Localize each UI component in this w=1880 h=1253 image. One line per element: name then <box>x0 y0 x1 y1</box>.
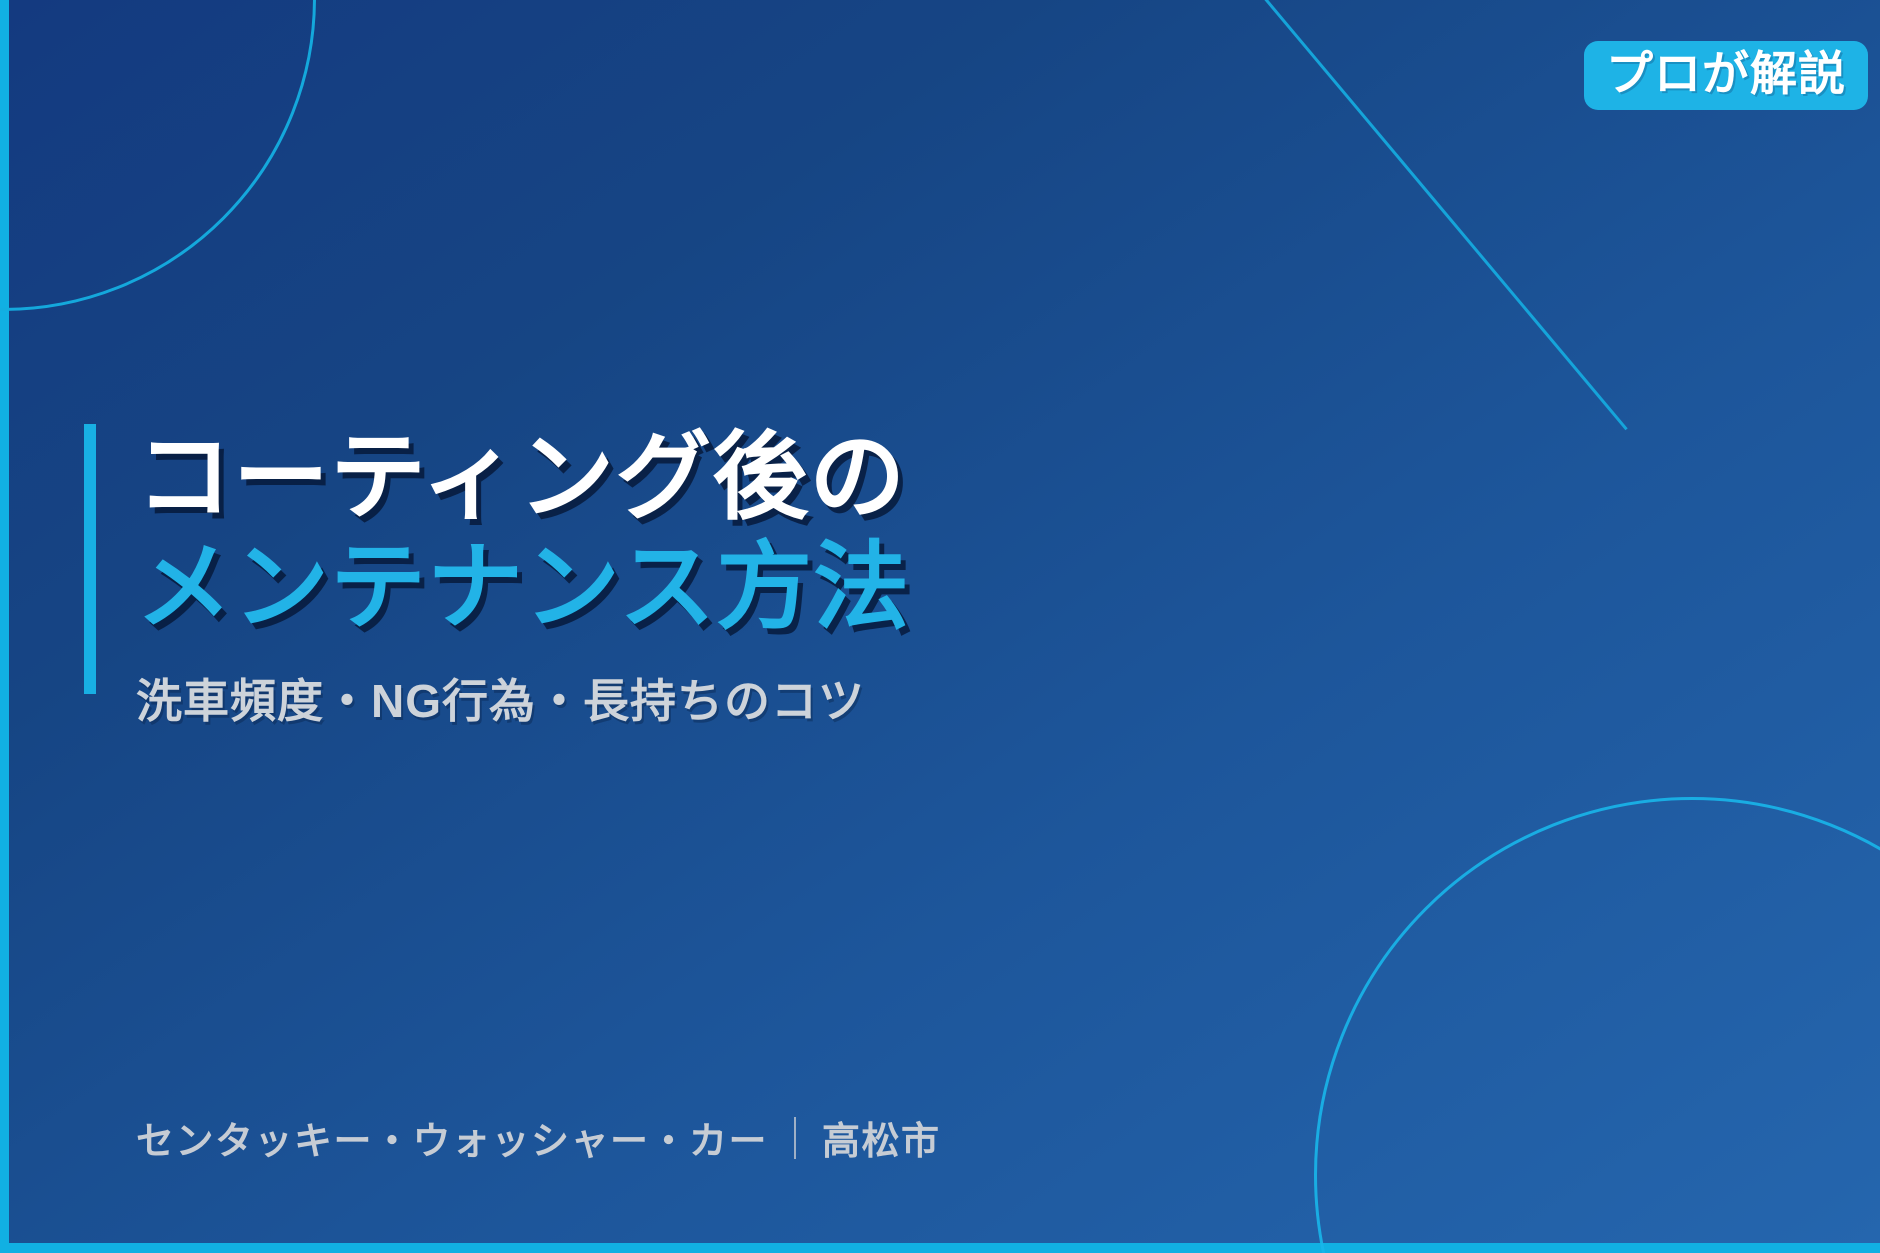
pro-explains-badge: プロが解説 <box>1584 41 1868 110</box>
footer-location: 高松市 <box>822 1110 941 1165</box>
title-subtitle: 洗車頻度・NG行為・長持ちのコツ <box>136 665 1184 731</box>
footer: センタッキー・ウォッシャー・カー 高松市 <box>136 1110 941 1165</box>
left-edge-accent-bar <box>0 0 9 1253</box>
badge-label: プロが解説 <box>1606 50 1846 97</box>
bottom-right-circle-outline <box>1314 797 1880 1253</box>
title-line-1: コーティング後の <box>136 424 1184 532</box>
title-line-2: メンテナンス方法 <box>136 534 1184 642</box>
footer-brand-name: センタッキー・ウォッシャー・カー <box>136 1110 768 1165</box>
top-left-circle-outline <box>0 0 316 311</box>
title-accent-bar <box>84 424 96 694</box>
title-block: コーティング後の メンテナンス方法 洗車頻度・NG行為・長持ちのコツ <box>84 424 1184 731</box>
thumbnail-canvas: プロが解説 コーティング後の メンテナンス方法 洗車頻度・NG行為・長持ちのコツ… <box>0 0 1880 1253</box>
bottom-edge-accent-bar <box>0 1243 1880 1253</box>
diagonal-accent-line <box>1214 0 1628 430</box>
footer-divider <box>794 1117 796 1159</box>
